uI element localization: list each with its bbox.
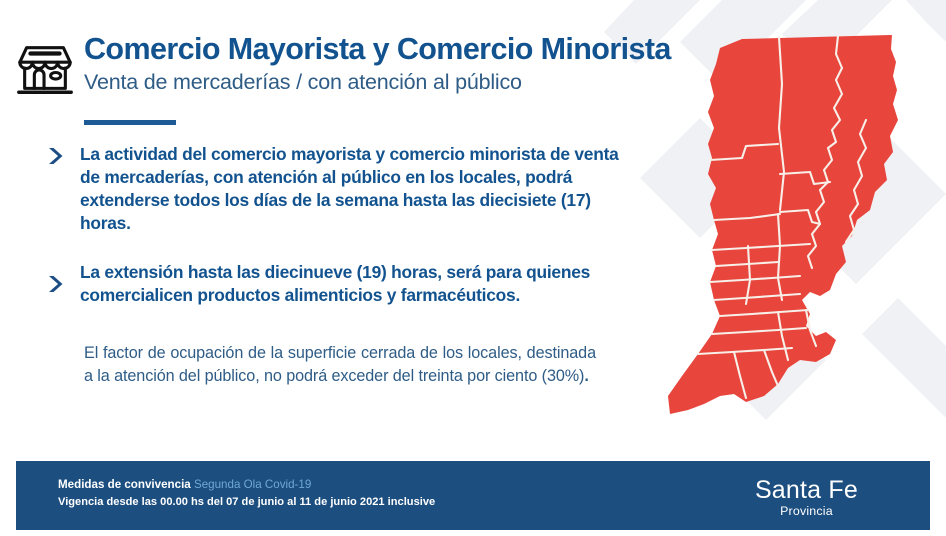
chevron-right-icon	[46, 146, 68, 166]
body-bullets: La actividad del comercio mayorista y co…	[46, 143, 621, 329]
bullet-item: La actividad del comercio mayorista y co…	[46, 143, 621, 235]
footer-text-block: Medidas de convivencia Segunda Ola Covid…	[58, 477, 435, 510]
slide-root: Comercio Mayorista y Comercio Minorista …	[0, 0, 946, 536]
footer-wave-label: Segunda Ola Covid-19	[194, 478, 311, 491]
chevron-right-icon	[46, 274, 68, 294]
bullet-text: La extensión hasta las diecinueve (19) h…	[80, 261, 621, 307]
occupancy-note: El factor de ocupación de la superficie …	[84, 342, 596, 388]
page-title: Comercio Mayorista y Comercio Minorista	[84, 32, 671, 67]
footer-line-1: Medidas de convivencia Segunda Ola Covid…	[58, 477, 435, 494]
storefront-icon	[14, 38, 76, 100]
footer-bar: Medidas de convivencia Segunda Ola Covid…	[16, 461, 930, 530]
mapa-provincia-santa-fe	[660, 24, 946, 436]
occupancy-note-text: El factor de ocupación de la superficie …	[84, 344, 596, 385]
occupancy-note-period: .	[584, 367, 588, 385]
footer-validity-text: Vigencia desde las 00.00 hs del 07 de ju…	[58, 494, 435, 510]
santa-fe-logo: Santa Fe Provincia	[755, 477, 858, 518]
bullet-text: La actividad del comercio mayorista y co…	[80, 143, 621, 235]
brand-name: Santa Fe	[755, 477, 858, 503]
footer-measures-label: Medidas de convivencia	[58, 478, 191, 491]
bullet-item: La extensión hasta las diecinueve (19) h…	[46, 261, 621, 307]
title-divider	[84, 120, 176, 125]
page-subtitle: Venta de mercaderías / con atención al p…	[84, 70, 522, 95]
brand-subtitle: Provincia	[755, 504, 858, 518]
